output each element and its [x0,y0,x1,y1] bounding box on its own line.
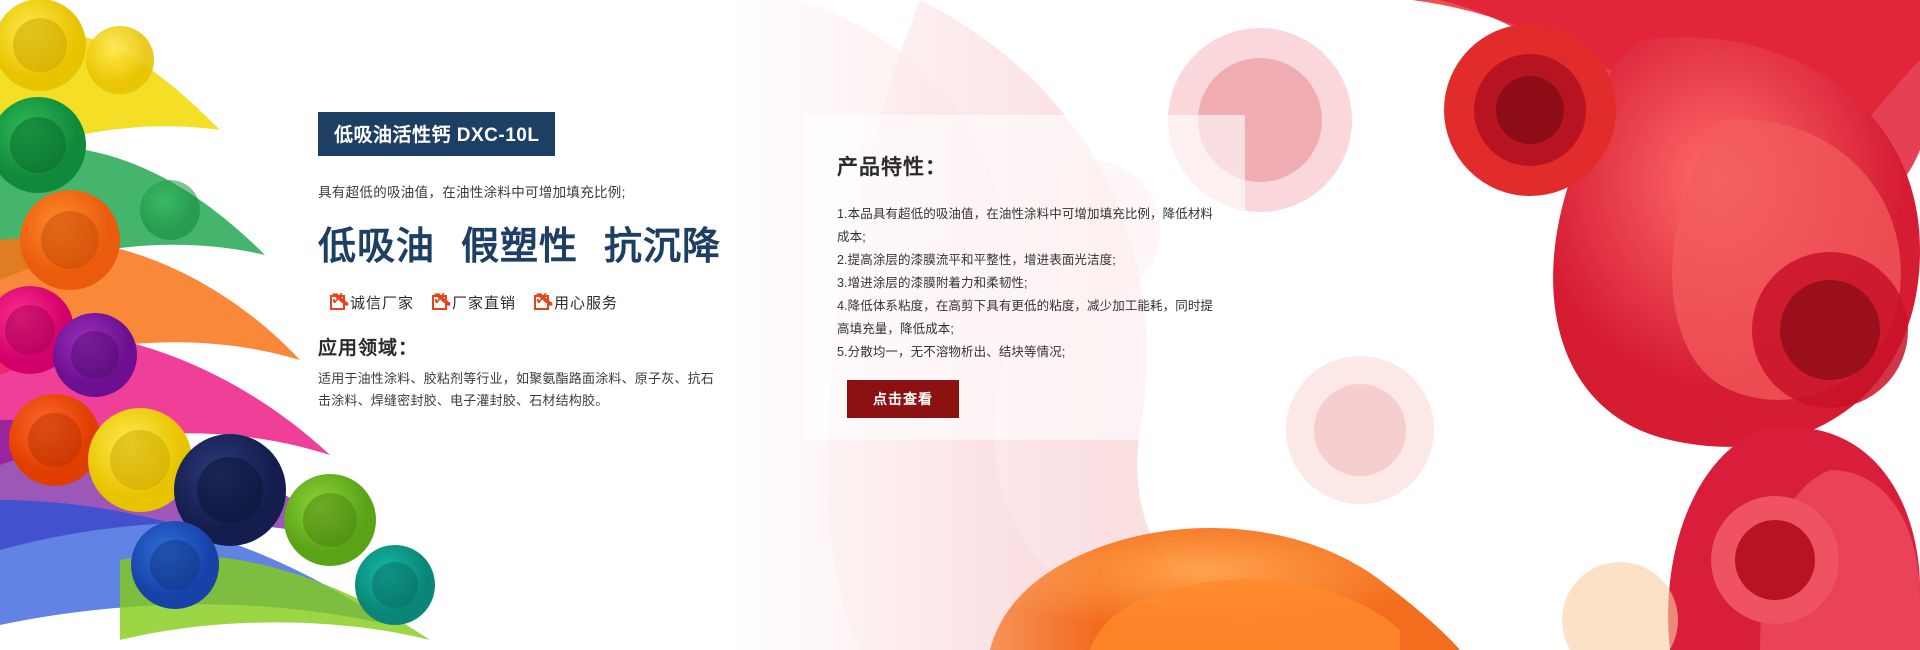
application-description: 适用于油性涂料、胶粘剂等行业，如聚氨酯路面涂料、原子灰、抗石击涂料、焊缝密封胶、… [318,368,718,412]
banner-content: 低吸油活性钙 DXC-10L 具有超低的吸油值，在油性涂料中可增加填充比例; 低… [0,0,1920,650]
trust-badges-row: ✓ 诚信厂家 ✓ 厂家直销 ✓ 用心服务 [330,292,738,313]
features-list: 1.本品具有超低的吸油值，在油性涂料中可增加填充比例，降低材料成本; 2.提高涂… [837,203,1215,364]
product-features-panel: 产品特性： 1.本品具有超低的吸油值，在油性涂料中可增加填充比例，降低材料成本;… [805,115,1245,440]
headline-word-3: 抗沉降 [604,223,721,268]
headline-word-2: 假塑性 [461,223,578,268]
trust-badge-label: 用心服务 [554,292,618,313]
headline-word-1: 低吸油 [318,223,435,268]
feature-item: 1.本品具有超低的吸油值，在油性涂料中可增加填充比例，降低材料成本; [837,203,1215,249]
trust-badge-3: ✓ 用心服务 [534,292,618,313]
product-title-badge: 低吸油活性钙 DXC-10L [318,112,555,156]
trust-badge-label: 厂家直销 [452,292,516,313]
feature-item: 2.提高涂层的漆膜流平和平整性，增进表面光洁度; [837,249,1215,272]
trust-badge-1: ✓ 诚信厂家 [330,292,414,313]
feature-item: 3.增进涂层的漆膜附着力和柔韧性; [837,272,1215,295]
feature-item: 4.降低体系粘度，在高剪下具有更低的粘度，减少加工能耗，同时提高填充量，降低成本… [837,295,1215,341]
checkbox-checked-icon: ✓ [330,295,345,310]
headline-keywords: 低吸油假塑性抗沉降 [318,215,738,270]
trust-badge-2: ✓ 厂家直销 [432,292,516,313]
view-details-button[interactable]: 点击查看 [847,380,959,418]
application-heading: 应用领域： [318,333,738,360]
checkbox-checked-icon: ✓ [432,295,447,310]
checkbox-checked-icon: ✓ [534,295,549,310]
product-subtitle: 具有超低的吸油值，在油性涂料中可增加填充比例; [318,181,738,201]
left-column: 低吸油活性钙 DXC-10L 具有超低的吸油值，在油性涂料中可增加填充比例; 低… [318,112,738,412]
trust-badge-label: 诚信厂家 [350,292,414,313]
features-heading: 产品特性： [837,151,1215,181]
feature-item: 5.分散均一，无不溶物析出、结块等情况; [837,341,1215,364]
